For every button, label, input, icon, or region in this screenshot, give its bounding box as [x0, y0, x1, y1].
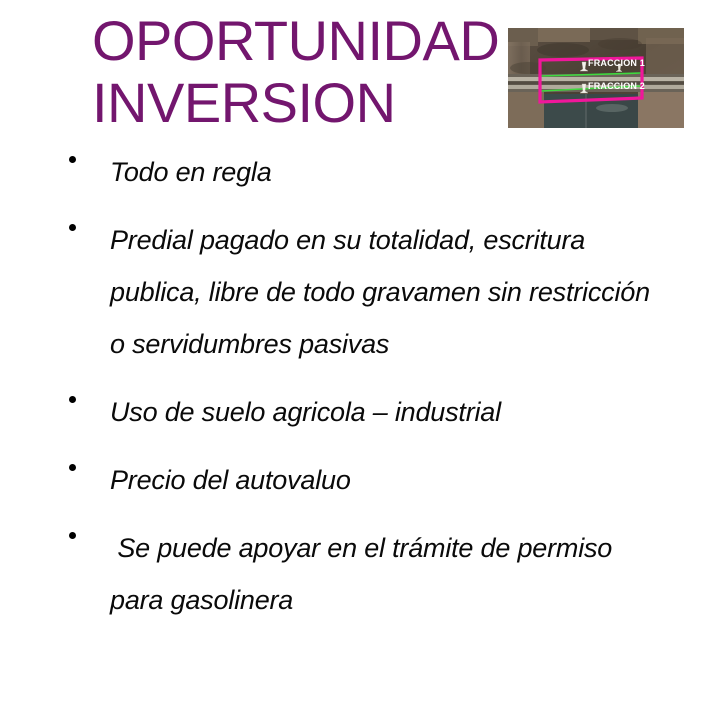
bullet-dot-icon — [69, 464, 76, 471]
bullet-dot-icon — [69, 396, 76, 403]
list-item: Predial pagado en su totalidad, escritur… — [60, 214, 670, 370]
map-strip-right — [646, 38, 684, 80]
bullet-dot-icon — [69, 224, 76, 231]
bullet-text: Uso de suelo agricola – industrial — [110, 397, 501, 427]
list-item: Todo en regla — [60, 146, 670, 198]
bullet-text: Precio del autovaluo — [110, 465, 351, 495]
title-line-2: INVERSION — [92, 72, 502, 134]
list-item: Se puede apoyar en el trámite de permiso… — [60, 522, 670, 626]
map-label-fraccion-1: FRACCION 1 — [588, 58, 645, 68]
map-lower-texture — [596, 104, 628, 112]
list-item: Precio del autovaluo — [60, 454, 670, 506]
map-field-upper-midleft — [538, 28, 590, 42]
bullet-dot-icon — [69, 156, 76, 163]
map-vegetation-b — [598, 38, 642, 50]
list-item: Uso de suelo agricola – industrial — [60, 386, 670, 438]
bullet-text: Se puede apoyar en el trámite de permiso… — [110, 533, 619, 615]
aerial-map-graphic: FRACCION 1 FRACCION 2 — [508, 28, 684, 128]
slide-canvas: OPORTUNIDAD INVERSION — [0, 0, 720, 720]
bullet-dot-icon — [69, 532, 76, 539]
bullet-list: Todo en regla Predial pagado en su total… — [60, 146, 670, 626]
map-vegetation-a — [537, 43, 589, 57]
page-title: OPORTUNIDAD INVERSION — [92, 10, 502, 134]
aerial-parcel-map-image: FRACCION 1 FRACCION 2 — [508, 28, 684, 128]
bullet-text: Todo en regla — [110, 157, 272, 187]
title-line-1: OPORTUNIDAD — [92, 10, 502, 72]
map-field-lower-right — [638, 92, 684, 128]
map-label-fraccion-2: FRACCION 2 — [588, 81, 645, 91]
map-field-upper-midright — [590, 28, 638, 40]
bullet-text: Predial pagado en su totalidad, escritur… — [110, 225, 657, 359]
